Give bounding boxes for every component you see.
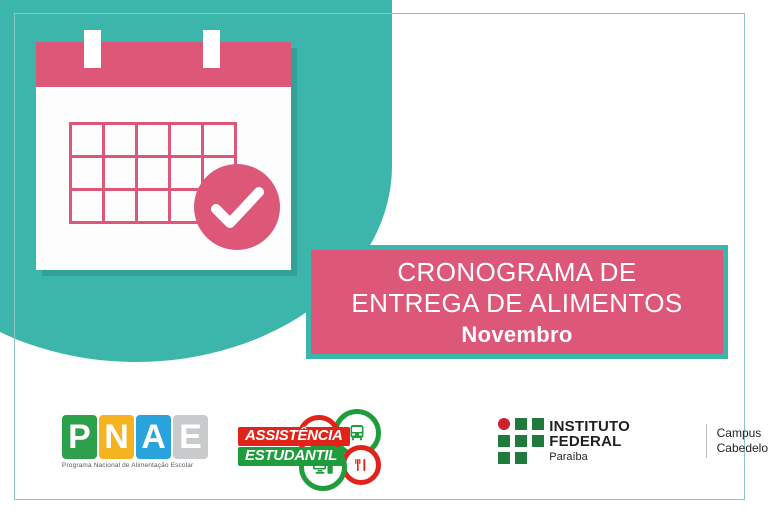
assistencia-banner: ASSISTÊNCIA xyxy=(238,427,350,446)
if-wordmark: INSTITUTO FEDERAL Paraíba xyxy=(549,419,693,463)
calendar-cell xyxy=(72,125,102,155)
pnae-letter-n: N xyxy=(99,415,134,459)
assistencia-estudantil-logo: ASSISTÊNCIA ESTUDANTIL xyxy=(237,405,389,483)
pnae-letter-e: E xyxy=(173,415,208,459)
title-card: CRONOGRAMA DE ENTREGA DE ALIMENTOS Novem… xyxy=(306,245,728,359)
calendar-cell xyxy=(204,125,234,155)
if-campus-line-1: Campus xyxy=(717,426,768,441)
calendar-cell xyxy=(105,191,135,221)
calendar-cell xyxy=(72,158,102,188)
if-name: INSTITUTO FEDERAL xyxy=(549,419,693,449)
calendar-cell xyxy=(171,125,201,155)
check-mark-icon xyxy=(194,164,280,250)
title-line-2: ENTREGA DE ALIMENTOS xyxy=(351,288,682,319)
title-card-inner: CRONOGRAMA DE ENTREGA DE ALIMENTOS Novem… xyxy=(311,250,723,354)
pnae-logo: P N A E Programa Nacional de Alimentação… xyxy=(62,415,208,469)
pnae-letter-a: A xyxy=(136,415,171,459)
pnae-letter-p: P xyxy=(62,415,97,459)
title-line-1: CRONOGRAMA DE xyxy=(397,257,636,288)
if-mark-dot xyxy=(498,418,510,430)
calendar-cell xyxy=(138,191,168,221)
calendar-check-icon xyxy=(36,42,291,270)
calendar-ring-left xyxy=(84,30,101,68)
calendar-cell xyxy=(72,191,102,221)
calendar-cell xyxy=(138,158,168,188)
calendar-cell xyxy=(105,125,135,155)
calendar-cell xyxy=(105,158,135,188)
if-state: Paraíba xyxy=(549,452,693,463)
pnae-tagline: Programa Nacional de Alimentação Escolar xyxy=(62,462,208,469)
calendar-ring-right xyxy=(203,30,220,68)
calendar-header xyxy=(36,42,291,87)
if-campus: Campus Cabedelo xyxy=(717,426,768,456)
if-grid-mark-icon xyxy=(498,418,540,464)
calendar-cell xyxy=(138,125,168,155)
if-campus-line-2: Cabedelo xyxy=(717,441,768,456)
poster-canvas: CRONOGRAMA DE ENTREGA DE ALIMENTOS Novem… xyxy=(0,0,768,514)
if-divider xyxy=(706,424,707,458)
pnae-letter-blocks: P N A E xyxy=(62,415,208,459)
instituto-federal-logo: INSTITUTO FEDERAL Paraíba Campus Cabedel… xyxy=(498,418,768,464)
title-subtitle: Novembro xyxy=(461,321,572,348)
estudantil-banner: ESTUDANTIL xyxy=(238,447,344,466)
cutlery-icon xyxy=(341,445,381,485)
